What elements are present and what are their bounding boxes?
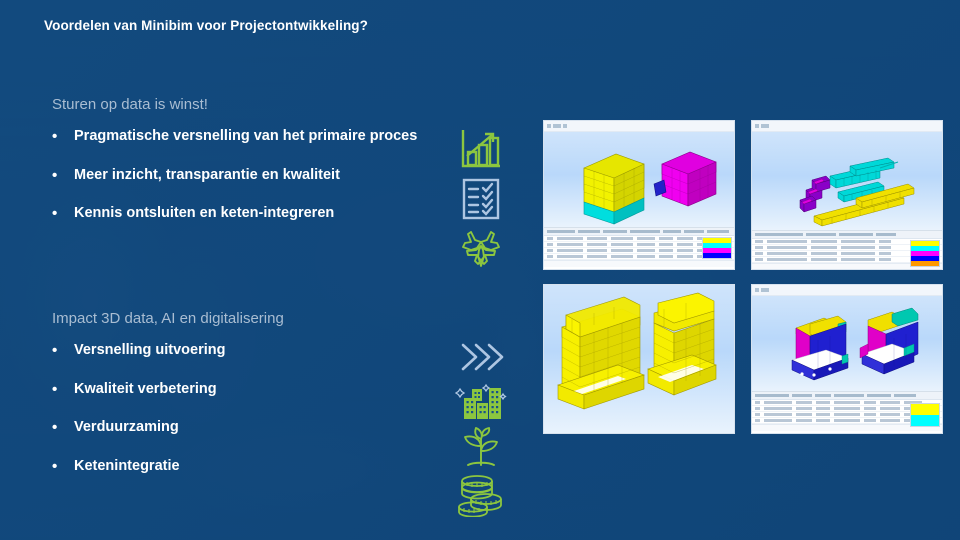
color-legend (910, 240, 940, 267)
properties-table[interactable] (544, 227, 734, 270)
column-header (755, 394, 789, 397)
list-item: • Pragmatische versnelling van het prima… (52, 129, 417, 146)
table-header-row (752, 231, 942, 239)
hands-teamwork-icon (458, 226, 504, 272)
viewer-toolbar[interactable] (752, 285, 942, 296)
bim-model-viewer-top-right[interactable] (751, 120, 943, 270)
plant-sprout-icon (455, 424, 507, 470)
section-1-icon-column (458, 126, 514, 272)
color-legend (702, 237, 732, 259)
column-header (815, 394, 831, 397)
model-3d-yellow-cyan-magenta (544, 132, 735, 227)
section-heading: Sturen op data is winst! (52, 96, 417, 113)
legend-swatch-cyan (911, 415, 939, 426)
bar-chart-growth-icon (458, 126, 504, 172)
bullet-marker: • (52, 206, 74, 223)
buildings-city-icon (455, 380, 507, 422)
bullet-text: Kwaliteit verbetering (74, 382, 217, 398)
bullet-text: Ketenintegratie (74, 459, 180, 475)
bullet-list: • Versnelling uitvoering • Kwaliteit ver… (52, 343, 284, 475)
bullet-list: • Pragmatische versnelling van het prima… (52, 129, 417, 223)
list-item: • Verduurzaming (52, 420, 284, 437)
section-heading: Impact 3D data, AI en digitalisering (52, 310, 284, 327)
properties-table[interactable] (752, 230, 942, 270)
toolbar-icon[interactable] (547, 124, 551, 128)
bullet-marker: • (52, 420, 74, 437)
bullet-text: Meer inzicht, transparantie en kwaliteit (74, 168, 340, 184)
list-item: • Versnelling uitvoering (52, 343, 284, 360)
presentation-slide: Voordelen van Minibim voor Projectontwik… (0, 0, 960, 540)
legend-swatch-orange (911, 261, 939, 266)
bim-model-viewer-bottom-left[interactable] (543, 284, 735, 434)
model-viewport[interactable] (752, 132, 942, 230)
list-item: • Kwaliteit verbetering (52, 382, 284, 399)
legend-swatch-blue (703, 253, 731, 258)
list-item: • Kennis ontsluiten en keten-integreren (52, 206, 417, 223)
toolbar-icon[interactable] (553, 124, 561, 128)
chevrons-forward-icon (455, 338, 507, 376)
bullet-marker: • (52, 168, 74, 185)
viewer-toolbar[interactable] (544, 121, 734, 132)
model-viewport[interactable] (544, 285, 734, 433)
toolbar-icon[interactable] (761, 288, 769, 292)
column-header (894, 394, 916, 397)
column-header (630, 230, 660, 233)
column-header (834, 394, 864, 397)
column-header (792, 394, 812, 397)
checklist-icon (458, 176, 504, 222)
bullet-marker: • (52, 382, 74, 399)
bim-model-viewer-bottom-right[interactable] (751, 284, 943, 434)
bullet-text: Kennis ontsluiten en keten-integreren (74, 206, 334, 222)
model-viewport[interactable] (544, 132, 734, 227)
table-header-row (544, 228, 734, 236)
section-impact-3d-data: Impact 3D data, AI en digitalisering • V… (52, 310, 284, 497)
table-total-row (544, 260, 734, 267)
toolbar-icon[interactable] (761, 124, 769, 128)
color-legend (910, 403, 940, 427)
bim-model-viewer-top-left[interactable] (543, 120, 735, 270)
list-item: • Ketenintegratie (52, 459, 284, 476)
bullet-marker: • (52, 343, 74, 360)
legend-swatch-yellow (911, 404, 939, 415)
slide-content: Voordelen van Minibim voor Projectontwik… (0, 0, 960, 540)
properties-table[interactable] (752, 391, 942, 434)
column-header (684, 230, 704, 233)
slide-title: Voordelen van Minibim voor Projectontwik… (44, 18, 368, 33)
viewer-toolbar[interactable] (752, 121, 942, 132)
column-header (755, 233, 803, 236)
model-3d-yellow-containers (544, 285, 735, 433)
list-item: • Meer inzicht, transparantie en kwalite… (52, 168, 417, 185)
column-header (707, 230, 729, 233)
model-3d-colored-containers (752, 296, 943, 391)
bullet-marker: • (52, 459, 74, 476)
column-header (578, 230, 600, 233)
column-header (876, 233, 896, 236)
bullet-text: Pragmatische versnelling van het primair… (74, 129, 417, 145)
column-header (806, 233, 836, 236)
table-header-row (752, 392, 942, 400)
bullet-text: Versnelling uitvoering (74, 343, 225, 359)
toolbar-icon[interactable] (563, 124, 567, 128)
section-2-icon-column (455, 338, 511, 517)
toolbar-icon[interactable] (755, 124, 759, 128)
bullet-text: Verduurzaming (74, 420, 179, 436)
column-header (547, 230, 575, 233)
column-header (603, 230, 627, 233)
column-header (663, 230, 681, 233)
model-viewport[interactable] (752, 296, 942, 391)
bullet-marker: • (52, 129, 74, 146)
model-3d-exploded-layout (752, 132, 943, 230)
column-header (867, 394, 891, 397)
toolbar-icon[interactable] (755, 288, 759, 292)
coins-stack-icon (455, 471, 507, 517)
column-header (839, 233, 873, 236)
section-sturen-op-data: Sturen op data is winst! • Pragmatische … (52, 96, 417, 245)
